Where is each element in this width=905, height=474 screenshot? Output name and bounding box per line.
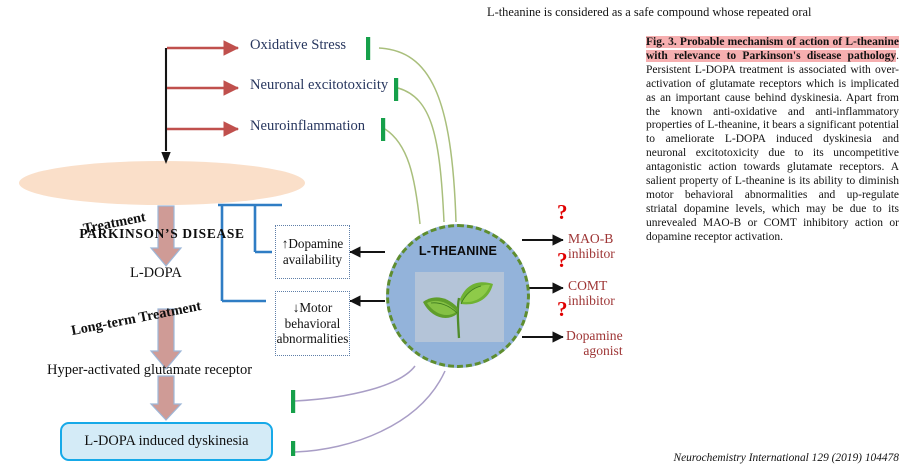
mechanism-label-line: MAO-B bbox=[568, 231, 615, 246]
mechanism-label-line: Dopamine bbox=[566, 328, 623, 343]
effect-box-dopamine-availability: ↑Dopamine availability bbox=[275, 225, 350, 279]
effect-box-motor-behavioral-abnormalities: ↓Motor behavioral abnormalities bbox=[275, 291, 350, 356]
mechanism-label-dopamine-agonist: Dopamine agonist bbox=[566, 328, 623, 358]
mechanism-label-comt-inhibitor: COMT inhibitor bbox=[568, 278, 615, 308]
inhibition-bar-excitotoxicity bbox=[394, 78, 398, 101]
effect-box-line: availability bbox=[283, 252, 342, 268]
pathology-arrows bbox=[167, 48, 238, 129]
body-text-paragraph: L-theanine is considered as a safe compo… bbox=[487, 5, 899, 20]
effect-arrows bbox=[350, 252, 385, 301]
figure-caption: Fig. 3. Probable mechanism of action of … bbox=[646, 36, 899, 245]
effect-box-line: behavioral bbox=[285, 316, 341, 332]
figure-3-diagram: Oxidative Stress Neuronal excitotoxicity… bbox=[0, 26, 640, 456]
effect-box-line: ↓Motor bbox=[293, 300, 333, 316]
mechanism-label-mao-b-inhibitor: MAO-B inhibitor bbox=[568, 231, 615, 261]
mechanism-label-line: COMT bbox=[568, 278, 615, 293]
trunk-arrow bbox=[161, 48, 170, 164]
center-node-label: L-THEANINE bbox=[386, 244, 530, 258]
outcome-box-dyskinesia: L-DOPA induced dyskinesia bbox=[60, 422, 273, 461]
chain-arrow-dyskinesia bbox=[151, 376, 181, 420]
figure-caption-body: . Persistent L-DOPA treatment is associa… bbox=[646, 50, 899, 243]
effect-connector-bracket bbox=[218, 205, 282, 301]
effect-box-line: ↑Dopamine bbox=[282, 236, 344, 252]
outcome-box-label: L-DOPA induced dyskinesia bbox=[84, 433, 248, 450]
mechanism-label-line: inhibitor bbox=[568, 293, 615, 308]
inhibition-bar-dyskinesia bbox=[291, 441, 295, 456]
inhibition-curves-lower bbox=[295, 366, 445, 452]
green-tea-leaves-photo bbox=[415, 272, 504, 342]
figure-caption-highlighted: Fig. 3. Probable mechanism of action of … bbox=[646, 36, 899, 62]
inhibition-bar-oxidative-stress bbox=[366, 37, 370, 60]
journal-footer-citation: Neurochemistry International 129 (2019) … bbox=[646, 452, 899, 464]
mechanism-label-line: agonist bbox=[566, 343, 623, 358]
pathology-label-oxidative-stress: Oxidative Stress bbox=[250, 38, 346, 54]
question-mark-comt: ? bbox=[557, 248, 568, 273]
effect-box-line: abnormalities bbox=[277, 331, 349, 347]
question-mark-dopamine-agonist: ? bbox=[557, 297, 568, 322]
inhibition-bar-glutamate-receptor bbox=[291, 390, 295, 413]
pathology-label-neuroinflammation: Neuroinflammation bbox=[250, 119, 365, 135]
question-mark-mao-b: ? bbox=[557, 200, 568, 225]
chain-node-l-dopa: L-DOPA bbox=[130, 266, 182, 282]
disease-node-label: PARKINSON’S DISEASE bbox=[42, 226, 282, 242]
chain-node-hyperactivated-glutamate-receptor: Hyper-activated glutamate receptor bbox=[47, 363, 252, 379]
mechanism-label-line: inhibitor bbox=[568, 246, 615, 261]
disease-node-ellipse bbox=[19, 161, 305, 205]
pathology-label-neuronal-excitotoxicity: Neuronal excitotoxicity bbox=[250, 78, 388, 94]
tea-leaf-illustration bbox=[415, 272, 504, 342]
inhibition-curves-upper bbox=[379, 48, 456, 224]
inhibition-bar-neuroinflammation bbox=[381, 118, 385, 141]
